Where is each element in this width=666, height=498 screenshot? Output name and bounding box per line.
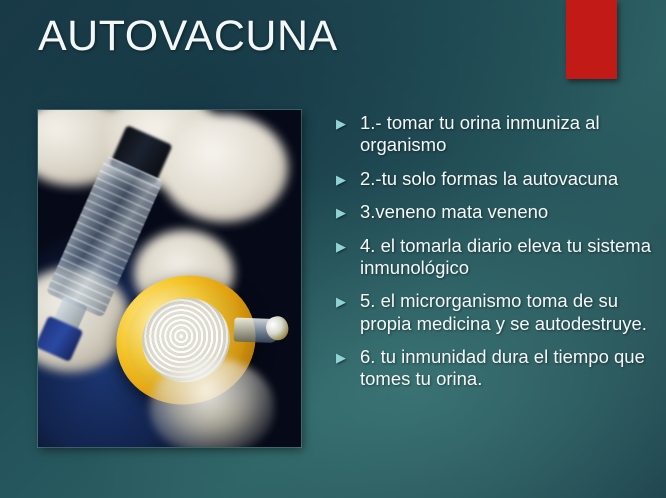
slide-photo	[38, 110, 301, 447]
list-item-label: 3.veneno mata veneno	[360, 201, 652, 223]
list-item-label: 1.- tomar tu orina inmuniza al organismo	[360, 112, 652, 157]
triangle-bullet-icon: ▶	[336, 290, 360, 308]
list-item-label: 4. el tomarla diario eleva tu sistema in…	[360, 235, 652, 280]
tablet-blur-3	[160, 114, 288, 222]
list-item: ▶ 5. el microrganismo toma de su propia …	[336, 290, 652, 335]
red-accent-bar	[566, 0, 617, 79]
list-item-label: 6. tu inmunidad dura el tiempo que tomes…	[360, 346, 652, 391]
photo-canvas	[38, 110, 301, 447]
list-item-label: 2.-tu solo formas la autovacuna	[360, 168, 652, 190]
presentation-slide: AUTOVACUNA	[0, 0, 666, 498]
triangle-bullet-icon: ▶	[336, 112, 360, 130]
list-item: ▶ 6. tu inmunidad dura el tiempo que tom…	[336, 346, 652, 391]
triangle-bullet-icon: ▶	[336, 168, 360, 186]
bullet-list: ▶ 1.- tomar tu orina inmuniza al organis…	[336, 112, 652, 402]
page-title: AUTOVACUNA	[38, 14, 338, 59]
triangle-bullet-icon: ▶	[336, 235, 360, 253]
photo-reflection	[150, 358, 274, 447]
list-item: ▶ 1.- tomar tu orina inmuniza al organis…	[336, 112, 652, 157]
list-item: ▶ 4. el tomarla diario eleva tu sistema …	[336, 235, 652, 280]
list-item: ▶ 2.-tu solo formas la autovacuna	[336, 168, 652, 190]
triangle-bullet-icon: ▶	[336, 201, 360, 219]
list-item-label: 5. el microrganismo toma de su propia me…	[360, 290, 652, 335]
triangle-bullet-icon: ▶	[336, 346, 360, 364]
list-item: ▶ 3.veneno mata veneno	[336, 201, 652, 223]
